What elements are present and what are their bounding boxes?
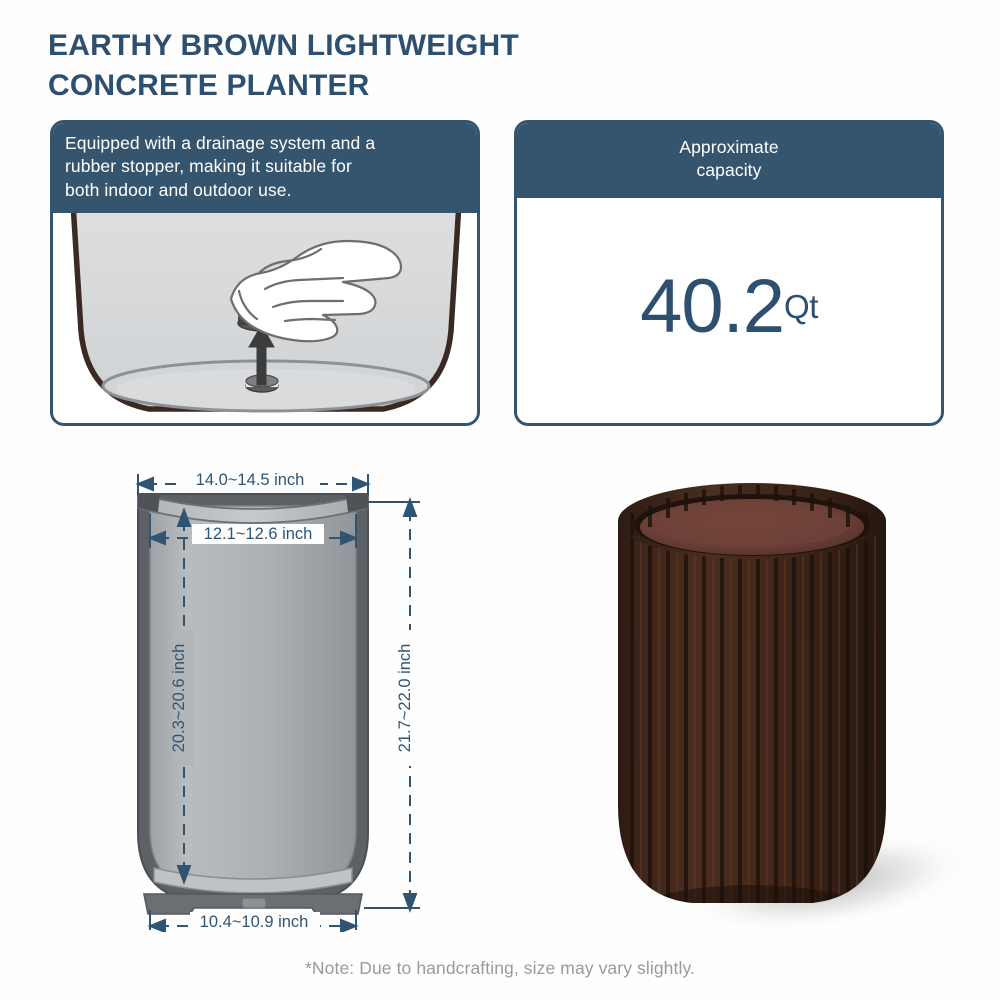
drainage-stopper-illustration xyxy=(53,213,477,426)
capacity-card: Approximate capacity 40.2Qt xyxy=(514,120,944,426)
dim-label-outer-diameter: 14.0~14.5 inch xyxy=(196,471,305,489)
capacity-value: 40.2 xyxy=(640,269,784,345)
dim-arrow-base-left xyxy=(150,920,165,932)
capacity-card-header: Approximate capacity xyxy=(517,123,941,198)
arrow-shaft xyxy=(257,343,266,385)
dimension-diagram: 14.0~14.5 inch 12.1~12.6 inch 20.3~20.6 … xyxy=(120,462,440,932)
feature-card-body xyxy=(53,213,477,426)
capacity-card-body: 40.2Qt xyxy=(517,198,941,416)
feature-header-line-3: both indoor and outdoor use. xyxy=(65,179,465,202)
feature-header-line-1: Equipped with a drainage system and a xyxy=(65,132,465,155)
diagram-base-drain-nub xyxy=(242,898,266,908)
infographic-page: EARTHY BROWN LIGHTWEIGHT CONCRETE PLANTE… xyxy=(0,0,1000,1000)
dim-label-outer-height: 21.7~22.0 inch xyxy=(396,644,414,753)
feature-card: Equipped with a drainage system and a ru… xyxy=(50,120,480,426)
page-title: EARTHY BROWN LIGHTWEIGHT CONCRETE PLANTE… xyxy=(48,26,668,106)
planter-interior-soil xyxy=(654,503,850,547)
dim-arrow-outer-right xyxy=(353,478,368,490)
dim-arrow-base-right xyxy=(341,920,356,932)
dim-label-base-diameter: 10.4~10.9 inch xyxy=(200,913,309,931)
capacity-unit: Qt xyxy=(784,288,818,326)
footnote: *Note: Due to handcrafting, size may var… xyxy=(0,958,1000,979)
dim-label-inner-diameter: 12.1~12.6 inch xyxy=(204,525,313,543)
page-title-line-2: CONCRETE PLANTER xyxy=(48,66,668,106)
dim-arrow-outer-left xyxy=(138,478,153,490)
dim-label-inner-height: 20.3~20.6 inch xyxy=(170,644,188,753)
page-title-line-1: EARTHY BROWN LIGHTWEIGHT xyxy=(48,26,668,66)
product-photo xyxy=(560,465,960,935)
feature-card-header: Equipped with a drainage system and a ru… xyxy=(53,123,477,213)
feature-header-line-2: rubber stopper, making it suitable for xyxy=(65,155,465,178)
capacity-header-line-1: Approximate xyxy=(529,136,929,159)
capacity-header-line-2: capacity xyxy=(529,159,929,182)
